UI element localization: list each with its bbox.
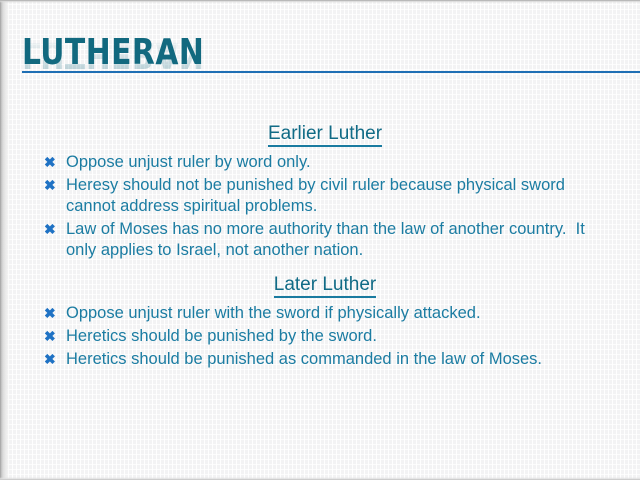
list-item-text: Law of Moses has no more authority than …: [66, 219, 614, 261]
bullet-x-icon: ✖: [44, 152, 56, 173]
section-later-luther: Later Luther ✖ Oppose unjust ruler with …: [36, 273, 614, 370]
title-underline-rule: [22, 71, 640, 73]
list-item-text: Heresy should not be punished by civil r…: [66, 175, 614, 217]
slide-left-edge-shading: [0, 0, 9, 480]
bullet-x-icon: ✖: [44, 219, 56, 240]
bullet-x-icon: ✖: [44, 349, 56, 370]
bullet-x-icon: ✖: [44, 303, 56, 324]
presentation-slide: LUTHERAN LUTHERAN Earlier Luther ✖ Oppos…: [0, 0, 640, 480]
list-item-text: Oppose unjust ruler by word only.: [66, 152, 614, 173]
bullet-x-icon: ✖: [44, 326, 56, 347]
list-item-text: Heretics should be punished as commanded…: [66, 349, 614, 370]
section-heading-later: Later Luther: [36, 273, 614, 298]
list-item: ✖ Oppose unjust ruler by word only.: [36, 152, 614, 173]
list-item: ✖ Heretics should be punished by the swo…: [36, 326, 614, 347]
list-item-text: Heretics should be punished by the sword…: [66, 326, 614, 347]
slide-title: LUTHERAN: [22, 34, 574, 72]
section-heading-later-text: Later Luther: [274, 274, 376, 298]
list-item: ✖ Heretics should be punished as command…: [36, 349, 614, 370]
bullet-list-earlier: ✖ Oppose unjust ruler by word only. ✖ He…: [36, 152, 614, 261]
bullet-list-later: ✖ Oppose unjust ruler with the sword if …: [36, 303, 614, 370]
slide-body: Earlier Luther ✖ Oppose unjust ruler by …: [36, 122, 614, 372]
list-item: ✖ Heresy should not be punished by civil…: [36, 175, 614, 217]
bullet-x-icon: ✖: [44, 175, 56, 196]
section-heading-earlier: Earlier Luther: [36, 122, 614, 147]
section-earlier-luther: Earlier Luther ✖ Oppose unjust ruler by …: [36, 122, 614, 261]
section-heading-earlier-text: Earlier Luther: [268, 123, 382, 147]
list-item: ✖ Law of Moses has no more authority tha…: [36, 219, 614, 261]
slide-title-block: LUTHERAN LUTHERAN: [22, 34, 622, 94]
list-item: ✖ Oppose unjust ruler with the sword if …: [36, 303, 614, 324]
list-item-text: Oppose unjust ruler with the sword if ph…: [66, 303, 614, 324]
slide-top-edge-shading: [0, 0, 640, 3]
